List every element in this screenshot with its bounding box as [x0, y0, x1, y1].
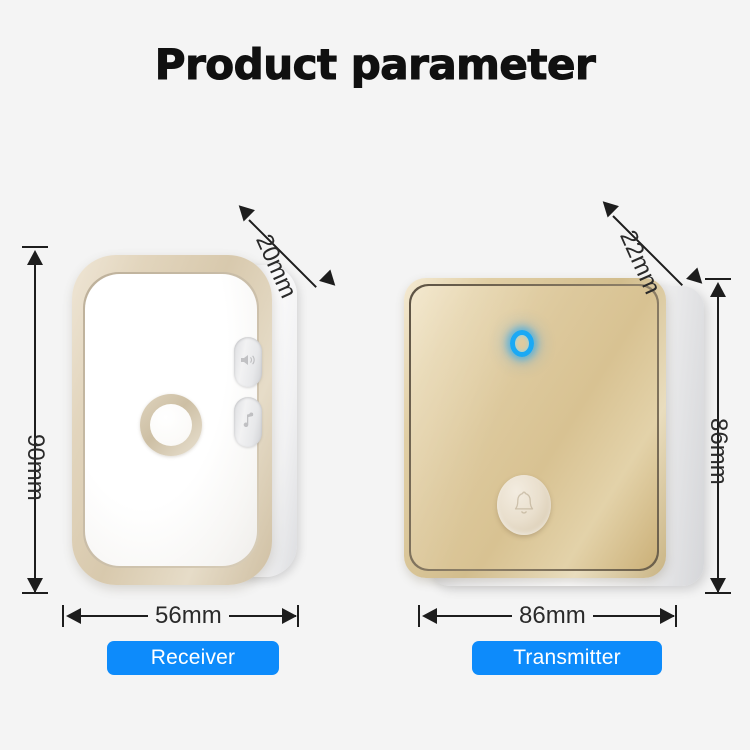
arrow-up-left-icon	[233, 200, 255, 222]
dimension-tick	[418, 605, 420, 627]
transmitter-width-label: 86mm	[512, 602, 593, 630]
arrow-left-icon	[422, 608, 437, 624]
receiver-label-pill[interactable]: Receiver	[107, 641, 279, 675]
receiver-height-label: 90mm	[21, 434, 49, 501]
music-note-icon	[242, 412, 255, 432]
transmitter-product-image	[404, 278, 704, 590]
transmitter-label-pill[interactable]: Transmitter	[472, 641, 662, 675]
receiver-label-text: Receiver	[151, 646, 235, 670]
receiver-width-label: 56mm	[148, 602, 229, 630]
arrow-down-right-icon	[319, 270, 341, 292]
arrow-down-icon	[27, 578, 43, 593]
product-parameter-diagram: Product parameter	[0, 0, 750, 750]
melody-button[interactable]	[234, 397, 262, 447]
dimension-tick	[62, 605, 64, 627]
ring-icon	[140, 394, 202, 456]
arrow-right-icon	[282, 608, 297, 624]
transmitter-gold-trim	[404, 278, 666, 578]
arrow-up-left-icon	[597, 196, 619, 218]
dimension-tick	[705, 278, 731, 280]
receiver-ring-inner	[150, 404, 192, 446]
dimension-tick	[297, 605, 299, 627]
page-title: Product parameter	[0, 40, 750, 89]
transmitter-height-label: 86mm	[704, 418, 732, 485]
transmitter-label-text: Transmitter	[513, 646, 621, 670]
arrow-down-icon	[710, 578, 726, 593]
doorbell-button[interactable]	[497, 475, 551, 535]
receiver-product-image	[72, 255, 297, 585]
volume-button[interactable]	[234, 337, 262, 387]
arrow-left-icon	[66, 608, 81, 624]
dimension-tick	[22, 246, 48, 248]
led-ring-icon	[510, 330, 534, 357]
bell-icon	[513, 490, 535, 521]
dimension-tick	[675, 605, 677, 627]
dimension-line	[34, 252, 36, 592]
volume-icon	[240, 353, 256, 371]
dimension-tick	[705, 592, 731, 594]
arrow-right-icon	[660, 608, 675, 624]
dimension-tick	[22, 592, 48, 594]
